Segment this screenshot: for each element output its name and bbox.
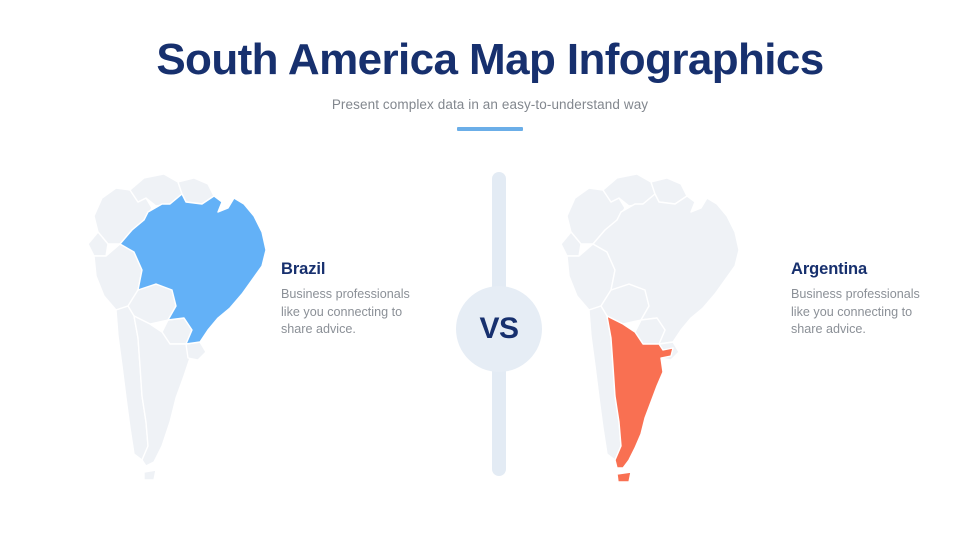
map-region-tierra-del-fuego [617,472,631,482]
map-region-uruguay [186,342,206,360]
map-region-tierra-del-fuego [144,470,156,480]
south-america-map-argentina-highlighted[interactable] [545,160,755,490]
vs-badge-label: VS [479,312,518,346]
header: South America Map Infographics Present c… [0,34,980,131]
info-body-argentina: Business professionals like you connecti… [791,286,926,339]
title-accent-bar [457,127,523,131]
page-subtitle: Present complex data in an easy-to-under… [0,95,980,115]
slide-canvas: South America Map Infographics Present c… [0,0,980,551]
page-title: South America Map Infographics [0,34,980,86]
info-body-brazil: Business professionals like you connecti… [281,286,416,339]
info-title-brazil: Brazil [281,259,416,279]
info-title-argentina: Argentina [791,259,926,279]
info-block-brazil: Brazil Business professionals like you c… [281,259,416,339]
south-america-map-brazil-highlighted[interactable] [72,160,282,490]
info-block-argentina: Argentina Business professionals like yo… [791,259,926,339]
vs-badge[interactable]: VS [456,286,542,372]
